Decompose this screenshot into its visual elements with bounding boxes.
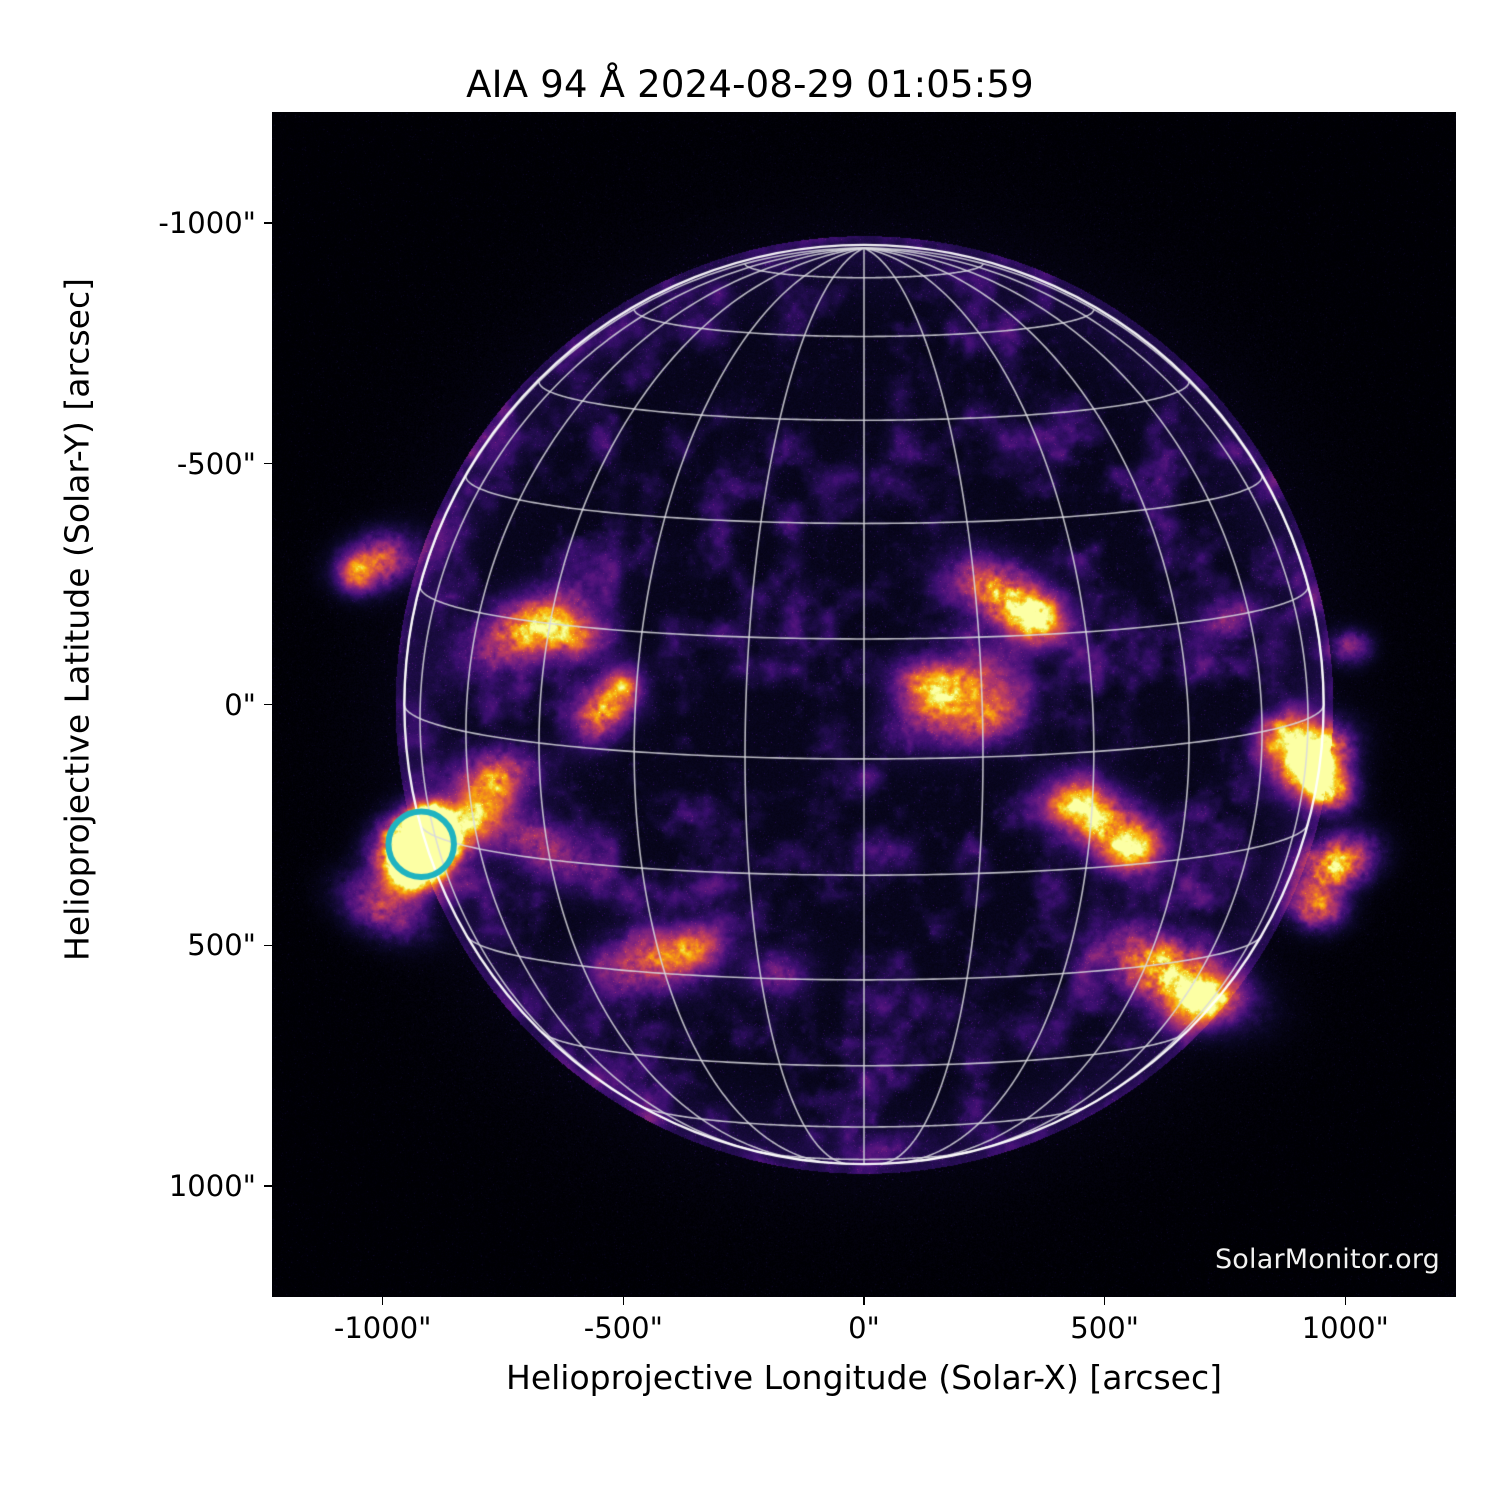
- y-tick-label: 500": [187, 928, 256, 962]
- x-tick-label: -500": [584, 1311, 663, 1345]
- x-tick-mark: [863, 1297, 865, 1305]
- watermark-label: SolarMonitor.org: [1215, 1244, 1440, 1275]
- x-tick-mark: [1345, 1297, 1347, 1305]
- y-tick-mark: [264, 704, 272, 706]
- y-tick-mark: [264, 463, 272, 465]
- solar-disk-heatmap: [272, 112, 1456, 1297]
- y-tick-label: -500": [177, 447, 256, 481]
- x-tick-mark: [382, 1297, 384, 1305]
- solar-image-plot[interactable]: SolarMonitor.org: [272, 112, 1456, 1297]
- y-tick-mark: [264, 1185, 272, 1187]
- y-tick-label: -1000": [158, 206, 256, 240]
- x-tick-mark: [1104, 1297, 1106, 1305]
- x-tick-label: 500": [1070, 1311, 1139, 1345]
- x-tick-mark: [623, 1297, 625, 1305]
- y-tick-label: 1000": [169, 1169, 256, 1203]
- x-tick-label: -1000": [334, 1311, 432, 1345]
- y-axis-label: Helioprojective Latitude (Solar-Y) [arcs…: [58, 120, 97, 1120]
- solar-image-figure: AIA 94 Å 2024-08-29 01:05:59 SolarMonito…: [0, 0, 1500, 1500]
- page-title: AIA 94 Å 2024-08-29 01:05:59: [0, 63, 1500, 106]
- y-tick-label: 0": [224, 688, 256, 722]
- x-tick-label: 1000": [1302, 1311, 1389, 1345]
- y-tick-mark: [264, 222, 272, 224]
- x-axis-label: Helioprojective Longitude (Solar-X) [arc…: [272, 1358, 1456, 1397]
- y-tick-mark: [264, 945, 272, 947]
- x-tick-label: 0": [848, 1311, 880, 1345]
